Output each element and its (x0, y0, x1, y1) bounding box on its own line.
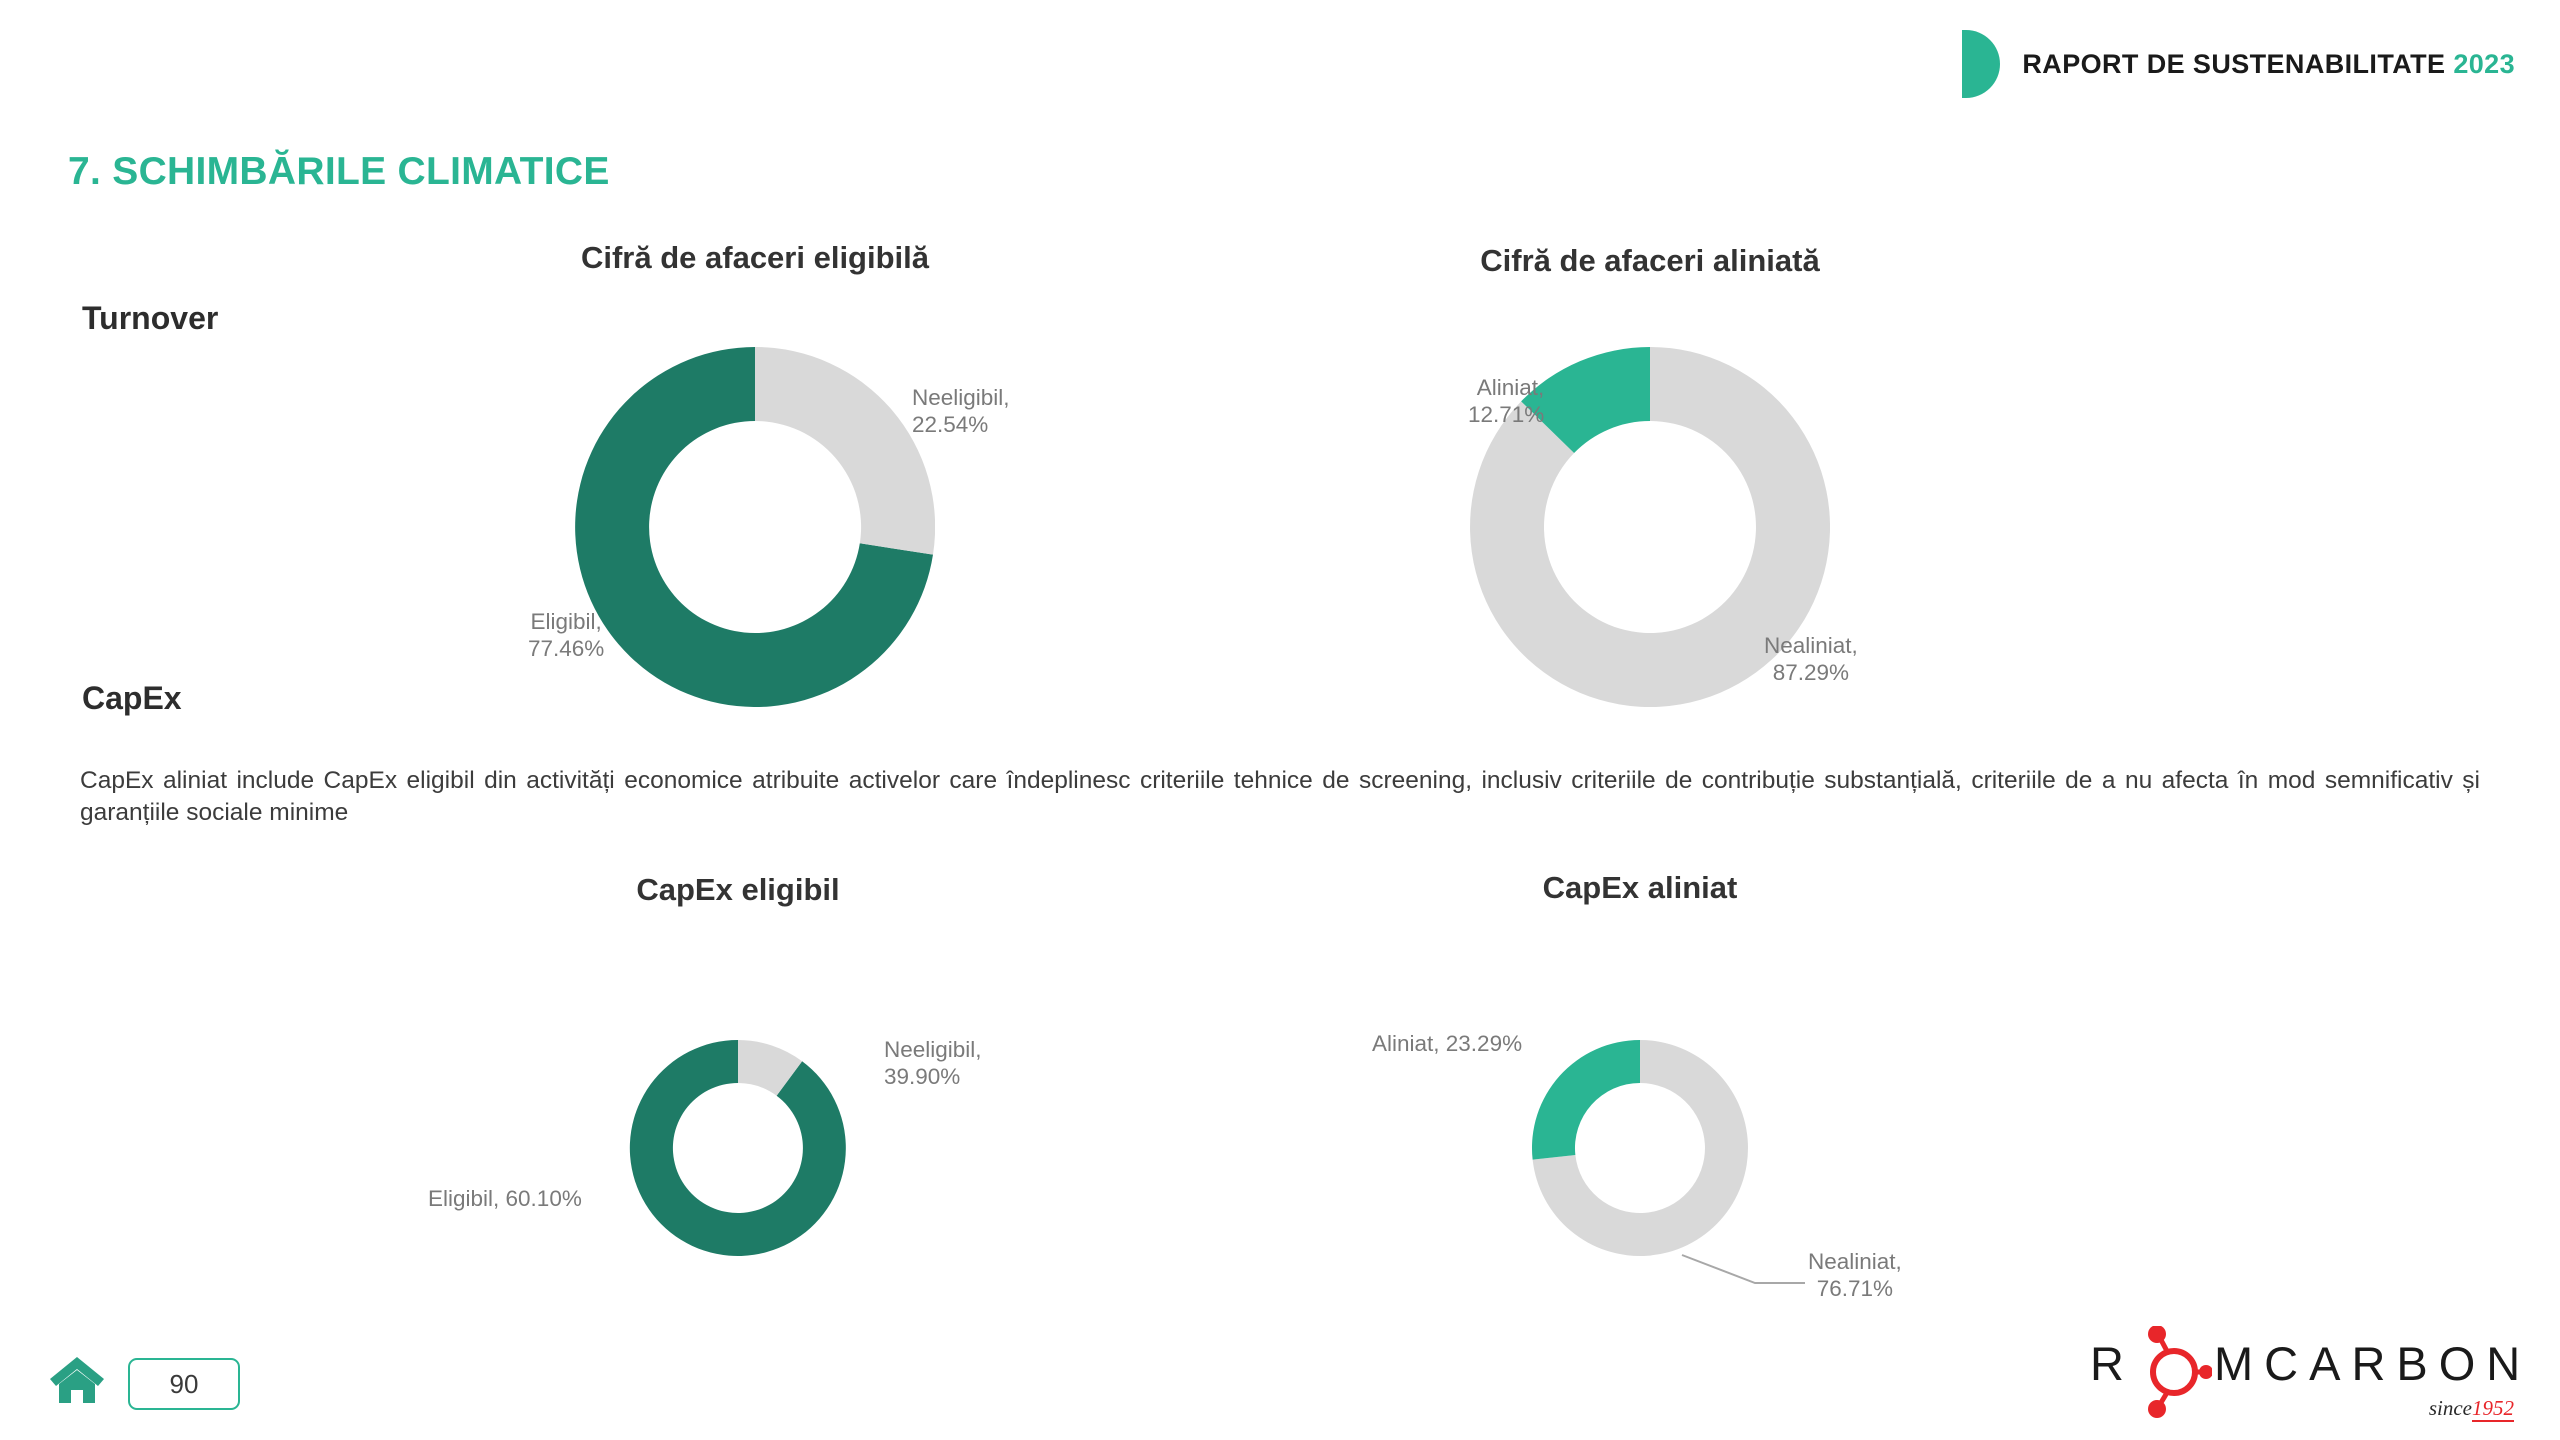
molecule-icon (2134, 1326, 2212, 1418)
brand-halfcircle-icon (1962, 30, 2000, 98)
logo-tagline-year: 1952 (2472, 1396, 2514, 1422)
label-aliniat-turnover: Aliniat, 12.71% (1468, 374, 1544, 429)
logo-tagline-word: since (2429, 1396, 2472, 1420)
logo-tagline: since1952 (2429, 1396, 2514, 1421)
chart-title-turnover-aligned: Cifră de afaceri aliniată (1480, 243, 1819, 279)
logo-wordmark: MCARBON (2214, 1336, 2531, 1391)
donut-capex-aligned (1526, 1034, 1754, 1262)
label-eligibil-capex: Eligibil, 60.10% (428, 1185, 582, 1212)
header-year: 2023 (2453, 49, 2515, 79)
slice-neeligibil (755, 347, 935, 555)
donut-capex-eligible (624, 1034, 852, 1262)
header-title-wrap: RAPORT DE SUSTENABILITATE 2023 (2022, 49, 2515, 80)
capex-description-paragraph: CapEx aliniat include CapEx eligibil din… (80, 765, 2480, 830)
page-title: 7. SCHIMBĂRILE CLIMATICE (68, 150, 610, 194)
page-number: 90 (170, 1369, 199, 1400)
slice-eligibil-capex (630, 1040, 846, 1256)
label-neeligibil-turnover: Neeligibil, 22.54% (912, 384, 1010, 439)
logo-letter-r: R (2090, 1336, 2137, 1391)
row-label-turnover: Turnover (82, 300, 218, 337)
header-title: RAPORT DE SUSTENABILITATE (2022, 49, 2445, 79)
home-icon[interactable] (48, 1355, 106, 1405)
label-nealiniat-turnover: Nealiniat, 87.29% (1764, 632, 1858, 687)
report-header: RAPORT DE SUSTENABILITATE 2023 (1962, 30, 2515, 98)
chart-title-capex-aligned: CapEx aliniat (1543, 870, 1738, 906)
label-neeligibil-capex: Neeligibil, 39.90% (884, 1036, 982, 1091)
label-nealiniat-capex: Nealiniat, 76.71% (1808, 1248, 1902, 1303)
donut-turnover-eligible (575, 347, 935, 707)
chart-title-capex-eligible: CapEx eligibil (636, 872, 839, 908)
slice-aliniat-capex (1532, 1040, 1640, 1160)
romcarbon-logo: R MCARBON since1952 (2090, 1330, 2520, 1430)
label-eligibil-turnover: Eligibil, 77.46% (528, 608, 604, 663)
label-aliniat-capex: Aliniat, 23.29% (1372, 1030, 1522, 1057)
chart-title-turnover-eligible: Cifră de afaceri eligibilă (581, 240, 929, 276)
leader-line-nealiniat-capex (1680, 1245, 1810, 1305)
row-label-capex: CapEx (82, 680, 182, 717)
page-number-box[interactable]: 90 (128, 1358, 240, 1410)
